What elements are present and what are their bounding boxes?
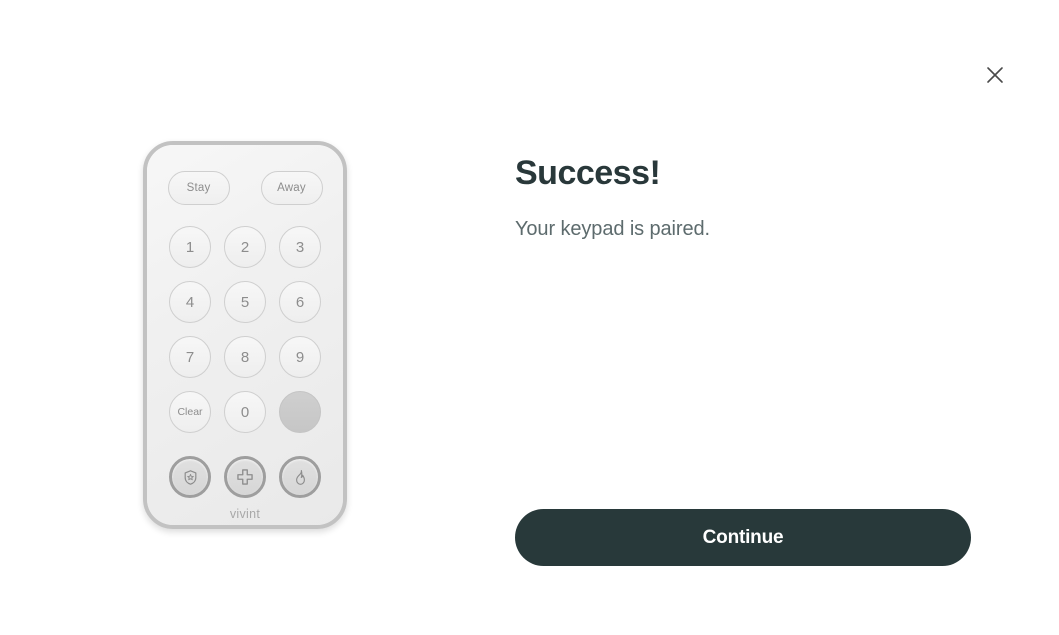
key-9[interactable]: 9	[279, 336, 321, 378]
stay-label: Stay	[187, 182, 211, 194]
stay-button[interactable]: Stay	[168, 171, 230, 205]
key-6[interactable]: 6	[279, 281, 321, 323]
key-0[interactable]: 0	[224, 391, 266, 433]
key-9-label: 9	[296, 349, 304, 366]
keypad-mode-row: Stay Away	[147, 171, 343, 205]
continue-button-label: Continue	[703, 527, 784, 549]
key-8-label: 8	[241, 349, 249, 366]
content-panel: Success! Your keypad is paired.	[515, 155, 975, 241]
key-2[interactable]: 2	[224, 226, 266, 268]
keypad-panic-row	[147, 456, 343, 498]
key-6-label: 6	[296, 294, 304, 311]
away-label: Away	[277, 182, 306, 194]
key-blank[interactable]	[279, 391, 321, 433]
away-button[interactable]: Away	[261, 171, 323, 205]
keypad-number-row-3: 7 8 9	[147, 336, 343, 378]
panic-medical-button[interactable]	[224, 456, 266, 498]
key-0-label: 0	[241, 404, 249, 421]
keypad-face: Stay Away 1 2 3 4 5 6 7 8 9	[147, 145, 343, 525]
vivint-brand-logo: vivint	[147, 507, 343, 521]
pairing-success-screen: Stay Away 1 2 3 4 5 6 7 8 9	[0, 0, 1059, 635]
keypad-device-illustration: Stay Away 1 2 3 4 5 6 7 8 9	[143, 141, 347, 529]
page-subtitle: Your keypad is paired.	[515, 218, 975, 241]
medical-cross-icon	[236, 468, 254, 486]
key-2-label: 2	[241, 239, 249, 256]
close-icon	[985, 65, 1005, 85]
continue-button[interactable]: Continue	[515, 509, 971, 566]
police-shield-icon	[182, 469, 199, 486]
key-3[interactable]: 3	[279, 226, 321, 268]
key-5[interactable]: 5	[224, 281, 266, 323]
key-7[interactable]: 7	[169, 336, 211, 378]
fire-flame-icon	[292, 469, 309, 486]
key-4-label: 4	[186, 294, 194, 311]
key-3-label: 3	[296, 239, 304, 256]
key-7-label: 7	[186, 349, 194, 366]
key-clear-label: Clear	[177, 406, 202, 418]
keypad-number-row-2: 4 5 6	[147, 281, 343, 323]
key-8[interactable]: 8	[224, 336, 266, 378]
keypad-number-row-4: Clear 0	[147, 391, 343, 433]
panic-fire-button[interactable]	[279, 456, 321, 498]
keypad-number-row-1: 1 2 3	[147, 226, 343, 268]
page-title: Success!	[515, 155, 975, 192]
key-5-label: 5	[241, 294, 249, 311]
key-clear[interactable]: Clear	[169, 391, 211, 433]
key-1[interactable]: 1	[169, 226, 211, 268]
close-button[interactable]	[978, 58, 1012, 92]
key-1-label: 1	[186, 239, 194, 256]
panic-police-button[interactable]	[169, 456, 211, 498]
key-4[interactable]: 4	[169, 281, 211, 323]
